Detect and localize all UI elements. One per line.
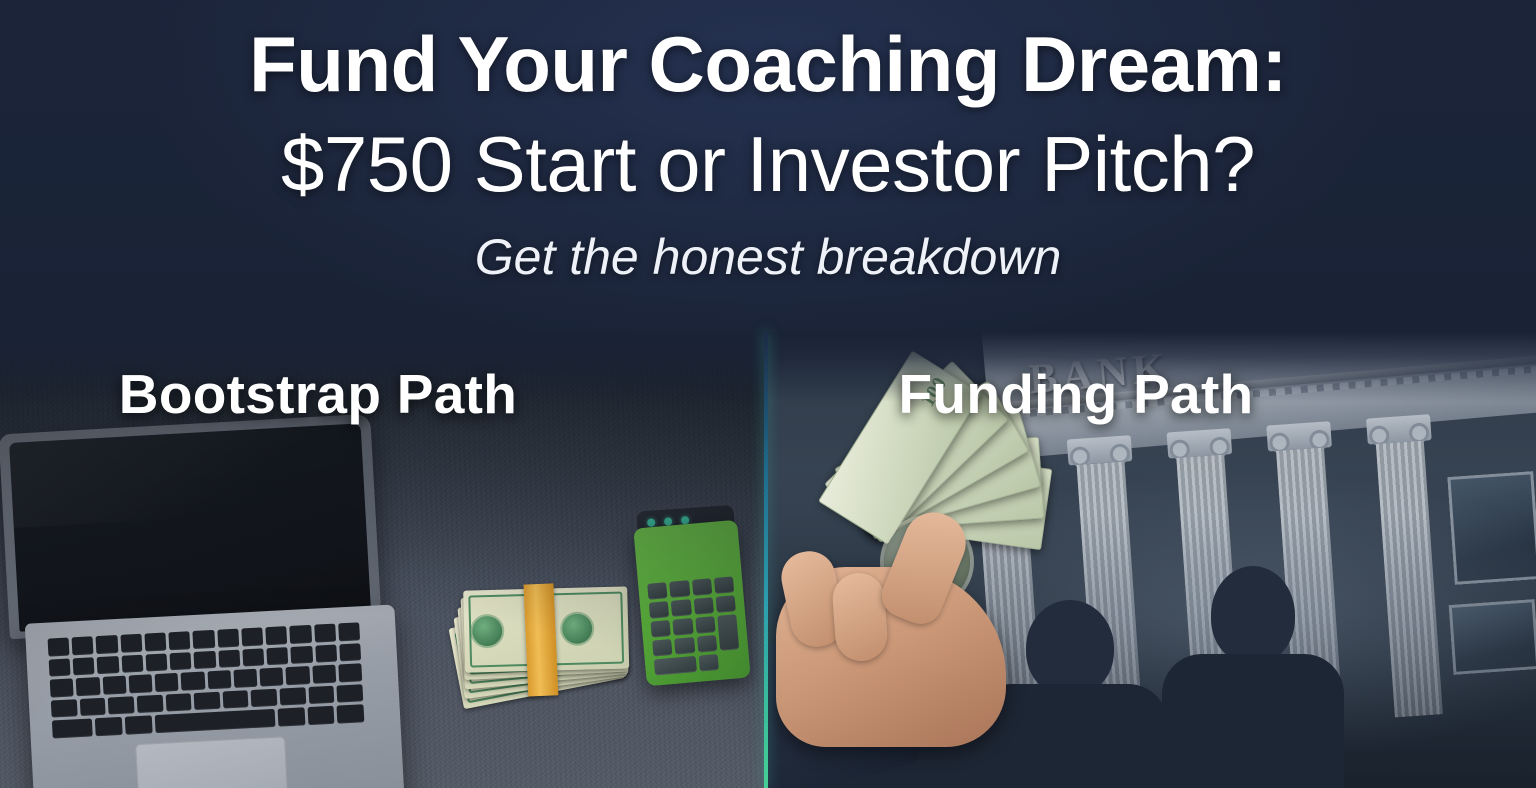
- finger: [831, 571, 889, 662]
- panel-title-bootstrap: Bootstrap Path: [0, 362, 766, 426]
- headline-line-1: Fund Your Coaching Dream:: [0, 14, 1536, 114]
- investor-silhouette: [1160, 572, 1346, 788]
- panel-divider: [764, 332, 768, 788]
- promo-banner: Fund Your Coaching Dream: $750 Start or …: [0, 0, 1536, 788]
- panel-funding[interactable]: BANK: [766, 332, 1536, 788]
- hand: [776, 517, 1046, 747]
- headline-line-2: $750 Start or Investor Pitch?: [0, 114, 1536, 214]
- subtitle: Get the honest breakdown: [0, 226, 1536, 288]
- header: Fund Your Coaching Dream: $750 Start or …: [0, 0, 1536, 336]
- panel-title-funding: Funding Path: [766, 362, 1536, 426]
- panel-bootstrap[interactable]: BUDGET Bootstrap Pat: [0, 332, 766, 788]
- comparison-panels: BUDGET Bootstrap Pat: [0, 332, 1536, 788]
